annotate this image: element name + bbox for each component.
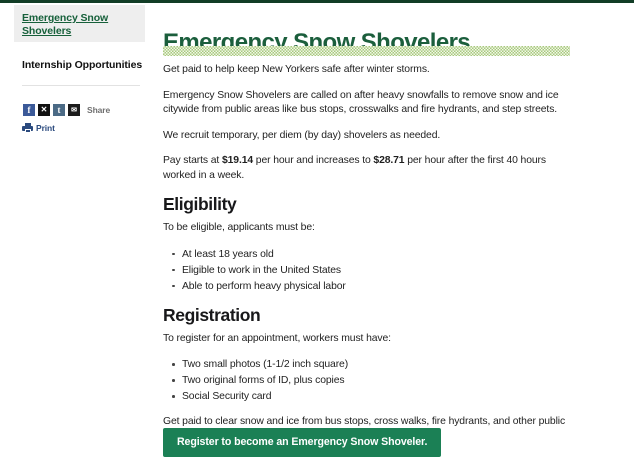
print-button[interactable]: Print xyxy=(22,123,55,133)
facebook-icon[interactable]: f xyxy=(23,104,35,116)
email-icon[interactable]: ✉ xyxy=(68,104,80,116)
pay-middle: per hour and increases to xyxy=(253,155,373,166)
list-item: Able to perform heavy physical labor xyxy=(182,279,573,294)
share-row: f ✕ t ✉ Share xyxy=(23,104,110,116)
registration-heading: Registration xyxy=(163,305,573,325)
eligibility-lead: To be eligible, applicants must be: xyxy=(163,221,573,236)
list-item: Two small photos (1-1/2 inch square) xyxy=(182,357,573,372)
print-label: Print xyxy=(36,123,55,133)
registration-lead: To register for an appointment, workers … xyxy=(163,332,573,347)
eligibility-heading: Eligibility xyxy=(163,194,573,214)
sidebar: Emergency Snow Shovelers Internship Oppo… xyxy=(0,3,152,471)
list-item: Two original forms of ID, plus copies xyxy=(182,373,573,388)
pay-base-rate: $19.14 xyxy=(222,155,253,166)
paragraph-2: We recruit temporary, per diem (by day) … xyxy=(163,129,573,144)
paragraph-1: Emergency Snow Shovelers are called on a… xyxy=(163,89,573,118)
list-item: At least 18 years old xyxy=(182,247,573,262)
share-label: Share xyxy=(87,105,110,115)
sidebar-item-emergency-snow-shovelers[interactable]: Emergency Snow Shovelers xyxy=(22,12,140,38)
main-content: Emergency Snow Shovelers Get paid to hel… xyxy=(152,3,634,471)
register-button[interactable]: Register to become an Emergency Snow Sho… xyxy=(163,428,441,457)
pay-paragraph: Pay starts at $19.14 per hour and increa… xyxy=(163,154,573,183)
article-body: Get paid to help keep New Yorkers safe a… xyxy=(163,63,573,455)
registration-list: Two small photos (1-1/2 inch square) Two… xyxy=(163,357,573,404)
sidebar-divider xyxy=(22,85,140,86)
list-item: Eligible to work in the United States xyxy=(182,263,573,278)
sidebar-item-internship-opportunities[interactable]: Internship Opportunities xyxy=(22,59,147,72)
pay-overtime-rate: $28.71 xyxy=(373,155,404,166)
intro-paragraph: Get paid to help keep New Yorkers safe a… xyxy=(163,63,573,78)
tumblr-icon[interactable]: t xyxy=(53,104,65,116)
pay-prefix: Pay starts at xyxy=(163,155,222,166)
title-divider xyxy=(163,46,570,56)
printer-icon xyxy=(22,123,33,133)
list-item: Social Security card xyxy=(182,389,573,404)
page-root: Emergency Snow Shovelers Internship Oppo… xyxy=(0,0,634,471)
eligibility-list: At least 18 years old Eligible to work i… xyxy=(163,247,573,294)
x-twitter-icon[interactable]: ✕ xyxy=(38,104,50,116)
